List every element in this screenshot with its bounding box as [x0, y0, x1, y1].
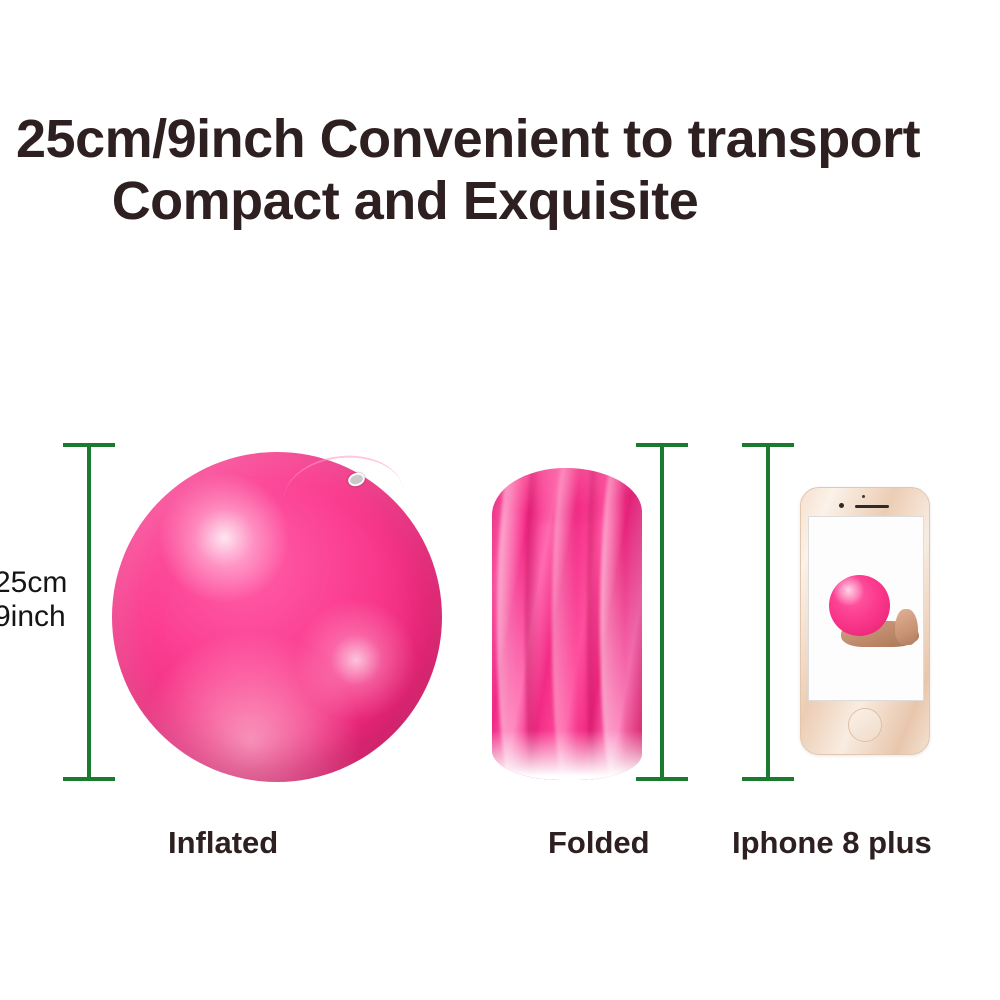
bracket-cap-bottom — [63, 777, 115, 781]
home-button-icon — [848, 708, 882, 742]
measurement-bracket-folded — [636, 443, 688, 781]
measurement-bracket-inflated — [63, 443, 115, 781]
bracket-cap-bottom — [742, 777, 794, 781]
measurement-bracket-phone — [742, 443, 794, 781]
earpiece-speaker-icon — [855, 505, 889, 508]
page-title: 25cm/9inch Convenient to transport Compa… — [0, 108, 1000, 232]
caption-inflated: Inflated — [168, 825, 278, 861]
fold-bottom-fade — [492, 730, 642, 780]
folded-ball-image — [492, 468, 642, 780]
product-infographic: 25cm/9inch Convenient to transport Compa… — [0, 0, 1000, 1000]
headline-line-1: 25cm/9inch Convenient to transport — [0, 108, 1000, 170]
bracket-stem — [660, 443, 664, 781]
bracket-stem — [766, 443, 770, 781]
ball-seam — [280, 450, 404, 510]
ball-on-screen-image — [829, 575, 890, 636]
caption-iphone: Iphone 8 plus — [732, 825, 932, 861]
caption-folded: Folded — [548, 825, 650, 861]
headline-line-2: Compact and Exquisite — [0, 170, 1000, 232]
bracket-stem — [87, 443, 91, 781]
iphone-8-plus-image — [800, 487, 930, 755]
thumb-image — [895, 609, 918, 645]
bracket-cap-bottom — [636, 777, 688, 781]
proximity-sensor-icon — [862, 495, 865, 498]
phone-screen — [808, 516, 924, 701]
inflated-ball-image — [112, 452, 442, 782]
front-camera-icon — [839, 503, 844, 508]
